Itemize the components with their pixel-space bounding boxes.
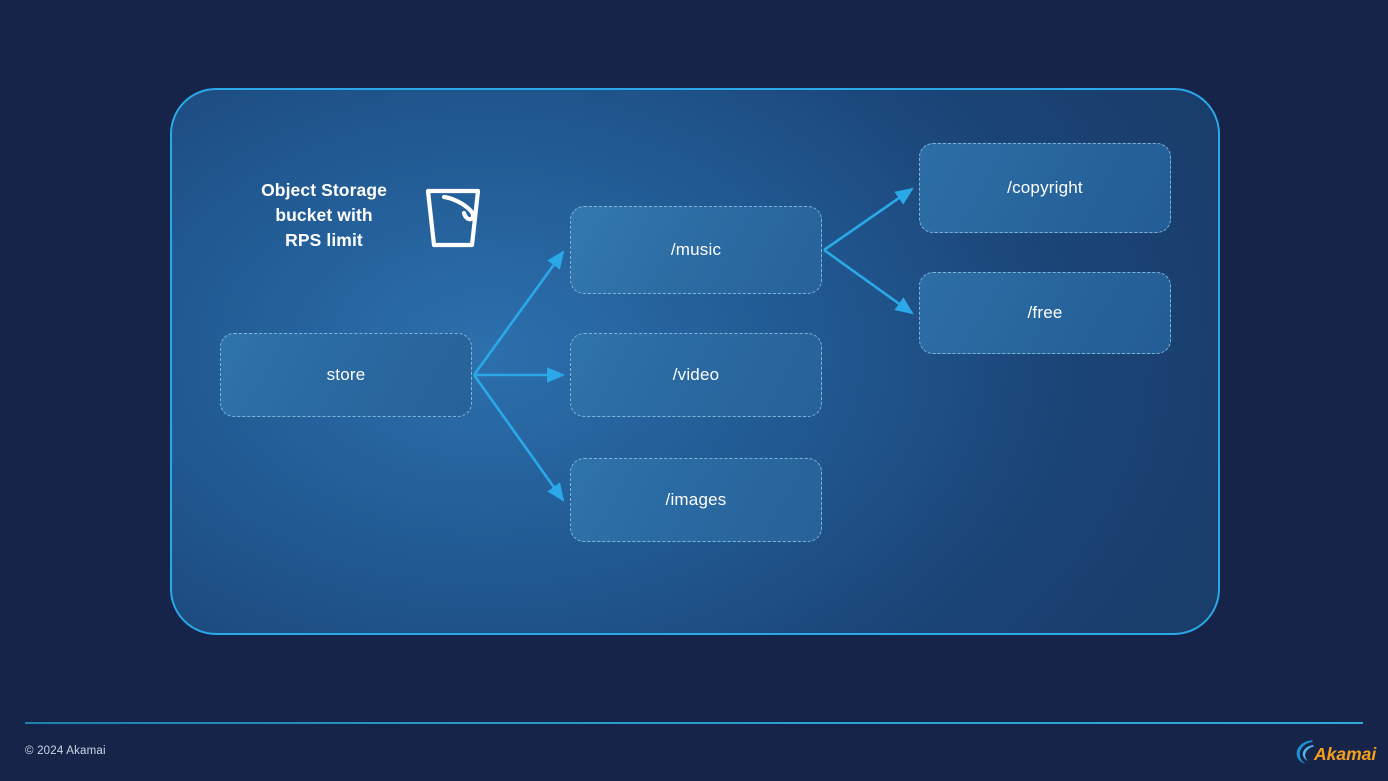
node-store[interactable]: store <box>220 333 472 417</box>
footer-copyright: © 2024 Akamai <box>25 745 106 757</box>
akamai-logo: Akamai <box>1292 737 1380 767</box>
node-copyright[interactable]: /copyright <box>919 143 1171 233</box>
diagram-header: Object Storage bucket with RPS limit <box>248 178 484 253</box>
node-music[interactable]: /music <box>570 206 822 294</box>
bucket-icon <box>422 181 484 249</box>
slide-canvas: Object Storage bucket with RPS limit sto… <box>0 0 1388 781</box>
node-video[interactable]: /video <box>570 333 822 417</box>
footer-divider <box>25 722 1363 724</box>
node-images[interactable]: /images <box>570 458 822 542</box>
akamai-wordmark: Akamai <box>1313 744 1377 764</box>
akamai-swoosh-inner-icon <box>1303 745 1314 761</box>
page-title: Object Storage bucket with RPS limit <box>248 178 400 253</box>
node-free[interactable]: /free <box>919 272 1171 354</box>
